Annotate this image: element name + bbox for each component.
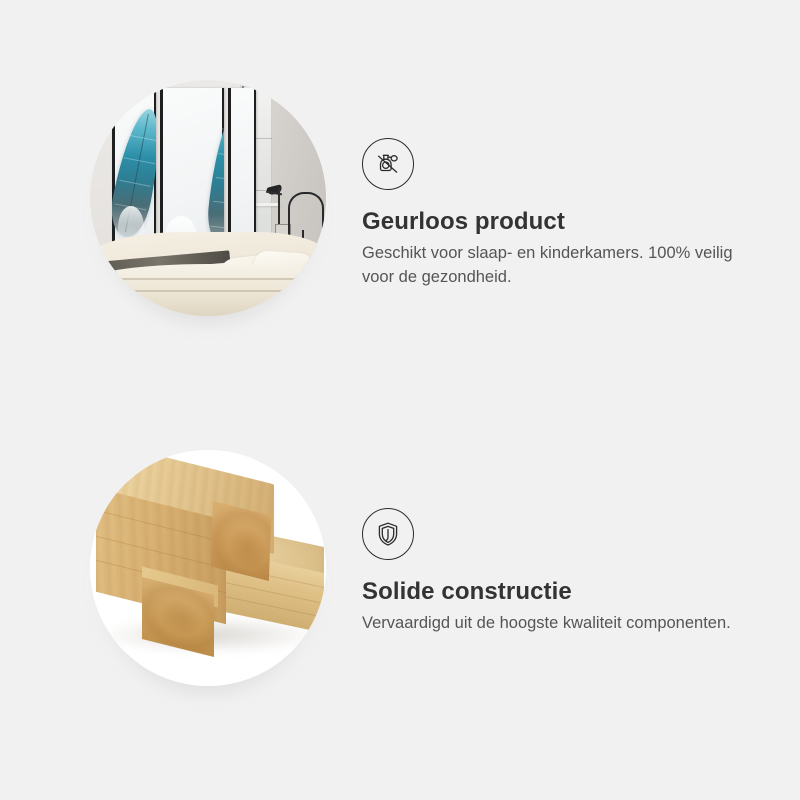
circular-image-mask	[90, 450, 326, 686]
duvet	[90, 264, 326, 316]
panel-edge	[112, 88, 115, 264]
duvet-fold	[90, 278, 326, 280]
beam-main-end-grain	[211, 501, 271, 581]
no-fragrance-glyph	[372, 148, 404, 180]
feather-barb	[218, 153, 224, 158]
bedroom-scene	[90, 80, 326, 316]
shield-icon	[362, 508, 414, 560]
feature-description: Vervaardigd uit de hoogste kwaliteit com…	[362, 612, 752, 636]
circular-image-mask	[90, 80, 326, 316]
feature-title: Solide constructie	[362, 578, 572, 607]
wood-grain-line	[220, 595, 324, 618]
feather-barb	[213, 201, 224, 206]
shield-glyph	[373, 519, 403, 549]
feature-block-geurloos-product: Geurloos product Geschikt voor slaap- en…	[0, 60, 800, 400]
feather-barb	[215, 177, 224, 182]
feature-title: Geurloos product	[362, 208, 565, 237]
wooden-beams-scene	[90, 450, 326, 686]
feature-block-solide-constructie: Solide constructie Vervaardigd uit de ho…	[0, 430, 800, 770]
wood-grain-line	[96, 510, 226, 543]
no-fragrance-icon	[362, 138, 414, 190]
feather-barb	[210, 225, 224, 230]
feature-image-wooden-beams	[90, 450, 326, 686]
feature-list-page: Geurloos product Geschikt voor slaap- en…	[0, 0, 800, 800]
duvet-fold	[90, 290, 326, 292]
feature-description: Geschikt voor slaap- en kinderkamers. 10…	[362, 242, 752, 290]
feature-image-bedroom	[90, 80, 326, 316]
